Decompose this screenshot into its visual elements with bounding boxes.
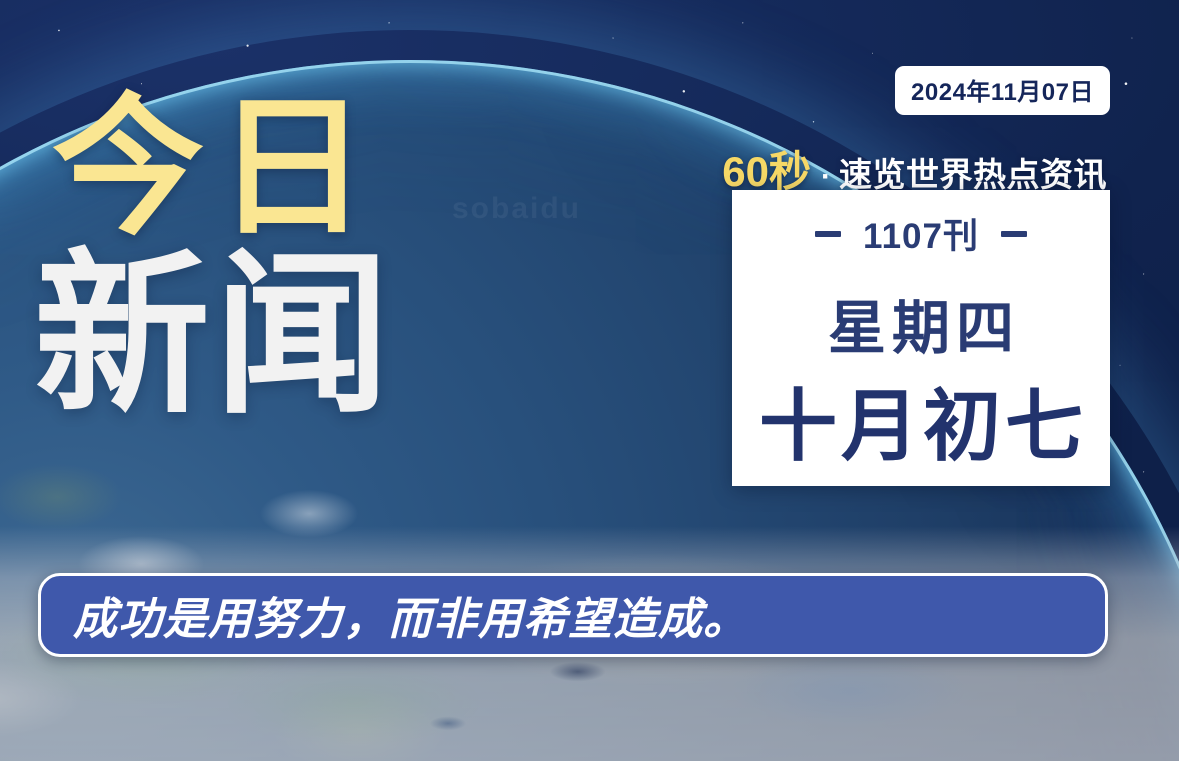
date-badge: 2024年11月07日 xyxy=(895,66,1110,115)
issue-row: 1107刊 xyxy=(815,208,1027,259)
news-poster: sobaidu 今日 新闻 2024年11月07日 60秒 · 速览世界热点资讯… xyxy=(0,0,1179,761)
page-title-line1: 今日 xyxy=(52,92,394,244)
quote-text: 成功是用努力，而非用希望造成。 xyxy=(73,583,748,647)
quote-bar: 成功是用努力，而非用希望造成。 xyxy=(38,573,1108,657)
issue-label: 1107刊 xyxy=(863,208,979,259)
poster-title: 今日 新闻 xyxy=(52,92,394,422)
tagline-label: 速览世界热点资讯 xyxy=(839,148,1107,196)
weekday-label: 星期四 xyxy=(822,281,1020,365)
lunar-date-label: 十月初七 xyxy=(755,387,1087,465)
info-card: 1107刊 星期四 十月初七 xyxy=(732,190,1110,486)
dash-left-icon xyxy=(815,231,841,237)
dash-right-icon xyxy=(1001,231,1027,237)
tagline-separator-dot: · xyxy=(821,160,831,194)
page-title-line2: 新闻 xyxy=(34,250,394,422)
watermark-text: sobaidu xyxy=(452,192,581,226)
